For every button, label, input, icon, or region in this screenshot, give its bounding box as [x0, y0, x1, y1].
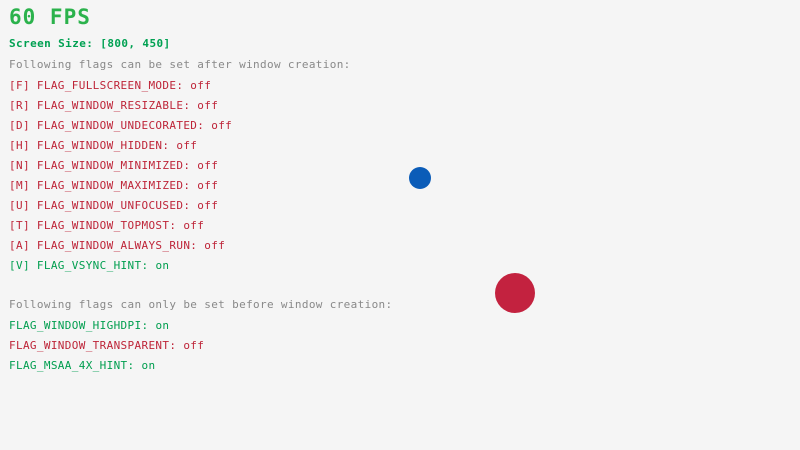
- flag-value: off: [211, 119, 232, 132]
- flag-hotkey: [N]: [9, 159, 37, 172]
- flag-row-flag-vsync-hint[interactable]: [V] FLAG_VSYNC_HINT: on: [9, 259, 169, 272]
- flag-separator: :: [128, 359, 142, 372]
- flag-separator: :: [162, 139, 176, 152]
- flag-row-flag-window-topmost[interactable]: [T] FLAG_WINDOW_TOPMOST: off: [9, 219, 204, 232]
- flag-value: off: [183, 219, 204, 232]
- flag-name: FLAG_WINDOW_RESIZABLE: [37, 99, 183, 112]
- flag-separator: :: [183, 199, 197, 212]
- ball-red: [495, 273, 535, 313]
- flag-hotkey: [A]: [9, 239, 37, 252]
- ball-blue: [409, 167, 431, 189]
- flag-name: FLAG_WINDOW_TRANSPARENT: [9, 339, 169, 352]
- flag-value: off: [197, 99, 218, 112]
- flag-name: FLAG_WINDOW_ALWAYS_RUN: [37, 239, 190, 252]
- flag-row-flag-window-maximized[interactable]: [M] FLAG_WINDOW_MAXIMIZED: off: [9, 179, 218, 192]
- flag-value: off: [176, 139, 197, 152]
- flag-row-flag-window-always-run[interactable]: [A] FLAG_WINDOW_ALWAYS_RUN: off: [9, 239, 225, 252]
- flag-value: off: [197, 199, 218, 212]
- flag-value: on: [155, 319, 169, 332]
- flag-hotkey: [H]: [9, 139, 37, 152]
- flag-row-flag-window-minimized[interactable]: [N] FLAG_WINDOW_MINIMIZED: off: [9, 159, 218, 172]
- flag-value: off: [190, 79, 211, 92]
- flag-value: off: [197, 159, 218, 172]
- flag-hotkey: [U]: [9, 199, 37, 212]
- flag-row-flag-window-highdpi: FLAG_WINDOW_HIGHDPI: on: [9, 319, 169, 332]
- flag-separator: :: [141, 259, 155, 272]
- flag-hotkey: [M]: [9, 179, 37, 192]
- section-header-before-creation: Following flags can only be set before w…: [9, 298, 393, 311]
- flag-separator: :: [183, 179, 197, 192]
- flag-name: FLAG_WINDOW_HIDDEN: [37, 139, 163, 152]
- flag-row-flag-fullscreen-mode[interactable]: [F] FLAG_FULLSCREEN_MODE: off: [9, 79, 211, 92]
- flag-separator: :: [176, 79, 190, 92]
- flag-name: FLAG_WINDOW_UNDECORATED: [37, 119, 197, 132]
- flag-separator: :: [141, 319, 155, 332]
- flag-name: FLAG_FULLSCREEN_MODE: [37, 79, 176, 92]
- screen-size-label: Screen Size: [800, 450]: [9, 37, 171, 50]
- flag-value: on: [142, 359, 156, 372]
- flag-name: FLAG_WINDOW_HIGHDPI: [9, 319, 141, 332]
- flag-name: FLAG_WINDOW_TOPMOST: [37, 219, 169, 232]
- flag-value: off: [197, 179, 218, 192]
- raylib-window-canvas: 60 FPS Screen Size: [800, 450] Following…: [0, 0, 800, 450]
- flag-separator: :: [169, 339, 183, 352]
- flag-hotkey: [V]: [9, 259, 37, 272]
- flag-value: on: [155, 259, 169, 272]
- fps-counter: 60 FPS: [9, 5, 91, 29]
- flag-separator: :: [183, 159, 197, 172]
- flag-name: FLAG_WINDOW_UNFOCUSED: [37, 199, 183, 212]
- flag-value: off: [183, 339, 204, 352]
- flag-value: off: [204, 239, 225, 252]
- flag-row-flag-window-resizable[interactable]: [R] FLAG_WINDOW_RESIZABLE: off: [9, 99, 218, 112]
- flag-row-flag-window-undecorated[interactable]: [D] FLAG_WINDOW_UNDECORATED: off: [9, 119, 232, 132]
- flag-separator: :: [183, 99, 197, 112]
- flag-row-flag-window-unfocused[interactable]: [U] FLAG_WINDOW_UNFOCUSED: off: [9, 199, 218, 212]
- flag-hotkey: [D]: [9, 119, 37, 132]
- flag-row-flag-msaa-4x-hint: FLAG_MSAA_4X_HINT: on: [9, 359, 155, 372]
- flag-name: FLAG_WINDOW_MINIMIZED: [37, 159, 183, 172]
- flag-name: FLAG_VSYNC_HINT: [37, 259, 142, 272]
- flag-hotkey: [T]: [9, 219, 37, 232]
- flag-hotkey: [R]: [9, 99, 37, 112]
- flag-name: FLAG_WINDOW_MAXIMIZED: [37, 179, 183, 192]
- flag-name: FLAG_MSAA_4X_HINT: [9, 359, 128, 372]
- flag-separator: :: [190, 239, 204, 252]
- flag-separator: :: [169, 219, 183, 232]
- flag-row-flag-window-hidden[interactable]: [H] FLAG_WINDOW_HIDDEN: off: [9, 139, 197, 152]
- flag-row-flag-window-transparent: FLAG_WINDOW_TRANSPARENT: off: [9, 339, 204, 352]
- section-header-after-creation: Following flags can be set after window …: [9, 58, 351, 71]
- flag-separator: :: [197, 119, 211, 132]
- flag-hotkey: [F]: [9, 79, 37, 92]
